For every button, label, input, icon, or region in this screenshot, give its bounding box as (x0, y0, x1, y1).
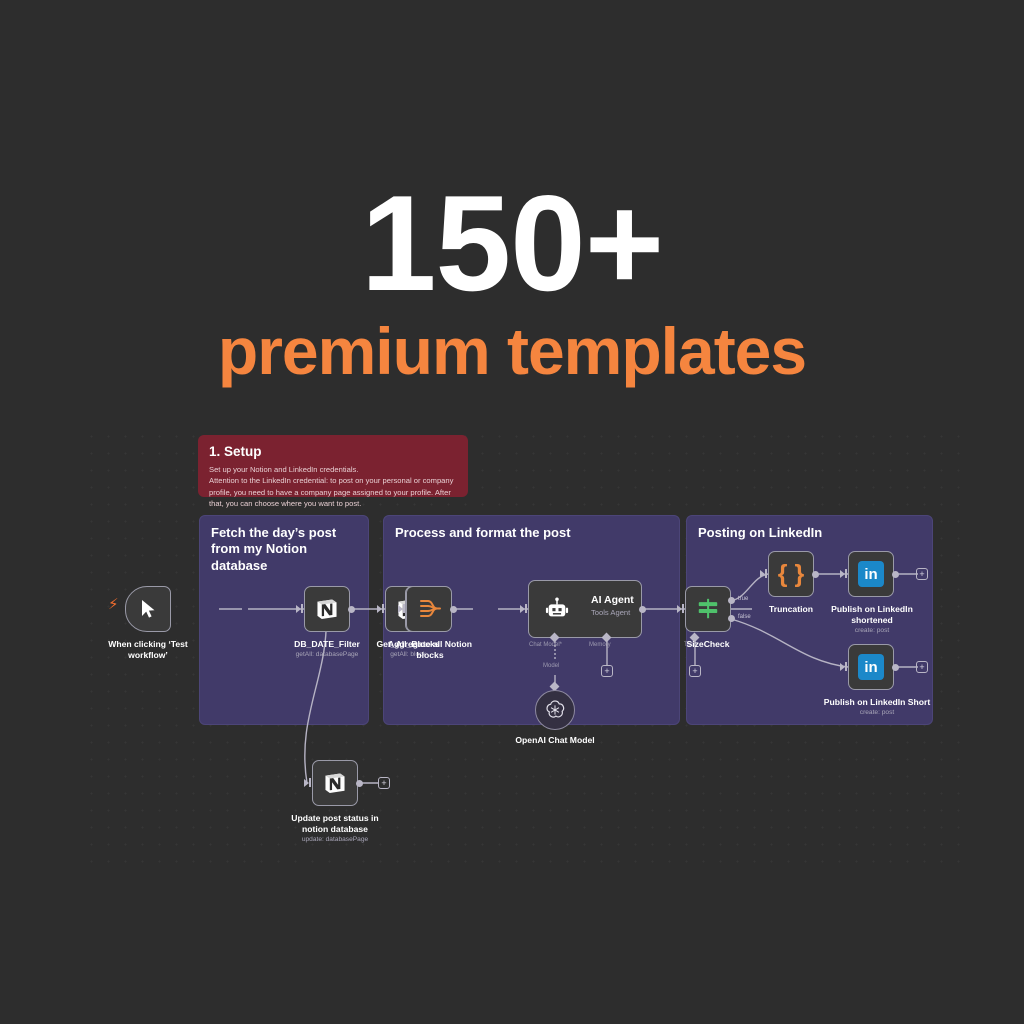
output-dot-truncation[interactable] (812, 571, 819, 578)
add-node-button-publong[interactable]: + (916, 661, 928, 673)
node-label-update-post-status: Update post status in notion database (278, 813, 392, 834)
add-node-button-pubshort[interactable]: + (916, 568, 928, 580)
node-label-publish-linkedin-shortened: Publish on LinkedIn shortened (822, 604, 922, 625)
output-dot-update[interactable] (356, 780, 363, 787)
input-bar-sizecheck (682, 604, 684, 613)
node-sub-publish-linkedin-short: create: post (822, 709, 932, 717)
notion-icon (314, 596, 340, 622)
output-dot-pubshort[interactable] (892, 571, 899, 578)
port-label-memory: Memory (589, 642, 611, 648)
openai-icon (544, 699, 566, 721)
node-sub-ai-agent: Tools Agent (591, 608, 634, 617)
page-subtitle: premium templates (0, 318, 1024, 384)
input-bar-pubshort (845, 569, 847, 578)
output-dot-dbdate[interactable] (348, 606, 355, 613)
node-label-aggregate: Aggregate all Notion blocks (380, 639, 480, 660)
node-label-publish-linkedin-short: Publish on LinkedIn Short (822, 697, 932, 708)
poster-canvas: 150+ premium templates 1. Setup Set up y… (0, 0, 1024, 1024)
node-db-date-filter[interactable] (304, 586, 350, 632)
workflow-canvas[interactable]: 1. Setup Set up your Notion and LinkedIn… (80, 425, 960, 865)
node-label-trigger: When clicking ‘Test workflow’ (88, 639, 208, 660)
input-bar-truncation (765, 569, 767, 578)
agent-text-block: AI Agent Tools Agent (591, 594, 634, 617)
page-title: 150+ (0, 175, 1024, 311)
node-label-openai-chat-model: OpenAI Chat Model (495, 735, 615, 746)
linkedin-icon: in (858, 654, 884, 680)
robot-icon (545, 597, 569, 621)
output-dot-publong[interactable] (892, 664, 899, 671)
cursor-icon (140, 599, 157, 619)
lightning-bolt-icon: ⚡ (108, 597, 119, 612)
add-tool-button[interactable]: + (689, 665, 701, 677)
switch-icon (696, 597, 720, 621)
input-bar-getall (382, 604, 384, 613)
connection-wires (80, 425, 960, 865)
node-truncation[interactable]: { } (768, 551, 814, 597)
linkedin-icon: in (858, 561, 884, 587)
aggregate-icon (417, 598, 441, 620)
node-sizecheck[interactable] (685, 586, 731, 632)
node-aggregate-all-notion-blocks[interactable] (406, 586, 452, 632)
port-label-model: Model (543, 663, 559, 669)
branch-label-false: false (738, 614, 751, 620)
node-sub-update-post-status: update: databasePage (278, 836, 392, 844)
output-dot-sizecheck-true[interactable] (728, 597, 735, 604)
node-publish-linkedin-shortened[interactable]: in (848, 551, 894, 597)
branch-label-true: true (738, 596, 748, 602)
port-label-chat-model: Chat Model* (529, 642, 562, 648)
input-bar-aggregate (403, 604, 405, 613)
node-label-ai-agent: AI Agent (591, 594, 634, 606)
output-dot-agent[interactable] (639, 606, 646, 613)
output-dot-aggregate[interactable] (450, 606, 457, 613)
node-publish-linkedin-short[interactable]: in (848, 644, 894, 690)
input-bar-update (309, 778, 311, 787)
code-braces-icon: { } (778, 562, 804, 587)
input-bar-agent (525, 604, 527, 613)
input-bar-dbdate (301, 604, 303, 613)
node-openai-chat-model[interactable] (535, 690, 575, 730)
node-label-sizecheck: SizeCheck (668, 639, 748, 650)
node-ai-agent[interactable]: AI Agent Tools Agent (528, 580, 642, 638)
notion-icon (322, 770, 348, 796)
node-sub-publish-linkedin-shortened: create: post (822, 627, 922, 635)
add-node-button-update[interactable]: + (378, 777, 390, 789)
node-manual-trigger[interactable] (125, 586, 171, 632)
add-memory-button[interactable]: + (601, 665, 613, 677)
node-update-post-status[interactable] (312, 760, 358, 806)
input-bar-publong (845, 662, 847, 671)
output-dot-sizecheck-false[interactable] (728, 615, 735, 622)
